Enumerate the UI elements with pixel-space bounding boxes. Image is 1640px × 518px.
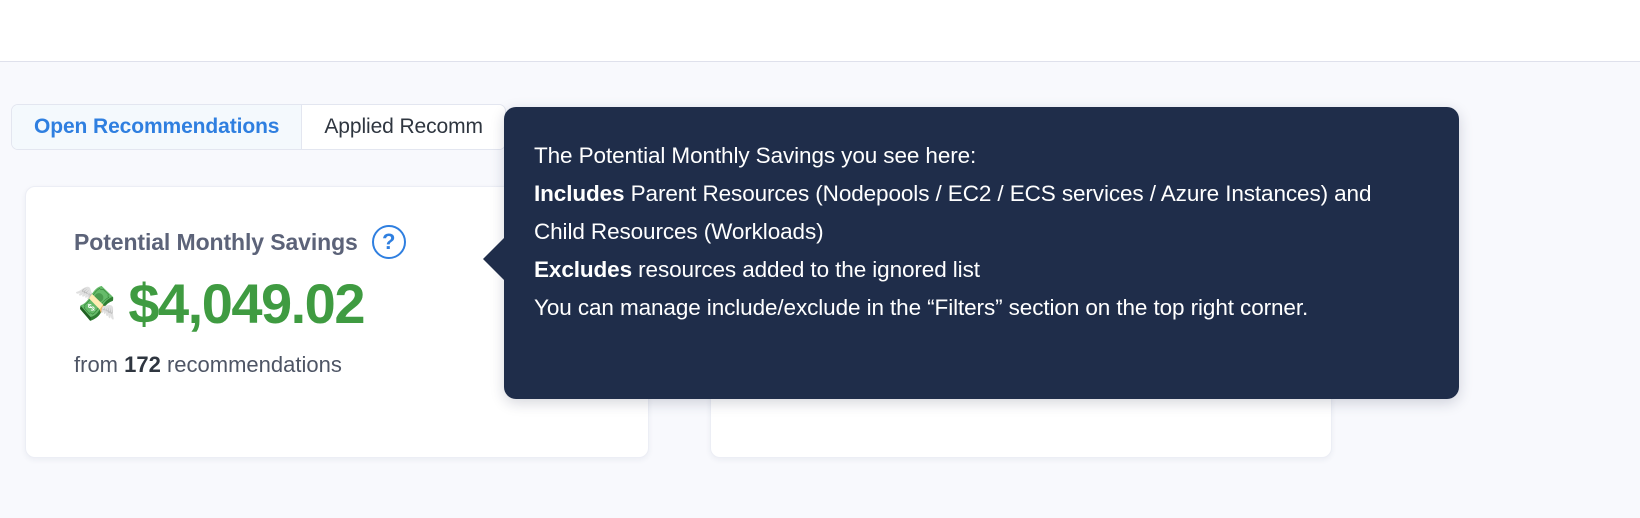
- tooltip-line-4: You can manage include/exclude in the “F…: [534, 289, 1423, 327]
- count-suffix: recommendations: [161, 352, 342, 377]
- page-header-bar: [0, 0, 1640, 62]
- tooltip-excludes-label: Excludes: [534, 257, 632, 282]
- tab-open-recommendations[interactable]: Open Recommendations: [12, 105, 302, 149]
- tooltip-line-2: Includes Parent Resources (Nodepools / E…: [534, 175, 1423, 251]
- card-title: Potential Monthly Savings: [74, 229, 358, 256]
- savings-info-tooltip: The Potential Monthly Savings you see he…: [504, 107, 1459, 399]
- tooltip-text: The Potential Monthly Savings you see he…: [534, 137, 1423, 327]
- tooltip-includes-label: Includes: [534, 181, 624, 206]
- recommendations-page: Open Recommendations Applied Recomm Pote…: [0, 0, 1640, 518]
- recommendations-tab-group: Open Recommendations Applied Recomm: [11, 104, 506, 150]
- count-prefix: from: [74, 352, 124, 377]
- tooltip-arrow-icon: [483, 237, 505, 281]
- tab-applied-recommendations[interactable]: Applied Recomm: [302, 105, 505, 149]
- question-mark-icon[interactable]: ?: [372, 225, 406, 259]
- money-emoji-icon: 💸: [74, 287, 116, 321]
- tooltip-line-1: The Potential Monthly Savings you see he…: [534, 137, 1423, 175]
- tooltip-line-3: Excludes resources added to the ignored …: [534, 251, 1423, 289]
- tooltip-includes-text: Parent Resources (Nodepools / EC2 / ECS …: [534, 181, 1371, 244]
- tab-open-recommendations-label: Open Recommendations: [34, 115, 279, 139]
- recommendations-count: 172: [124, 352, 161, 377]
- savings-amount: $4,049.02: [128, 275, 364, 334]
- tooltip-excludes-text: resources added to the ignored list: [632, 257, 980, 282]
- tab-applied-recommendations-label: Applied Recomm: [324, 115, 483, 139]
